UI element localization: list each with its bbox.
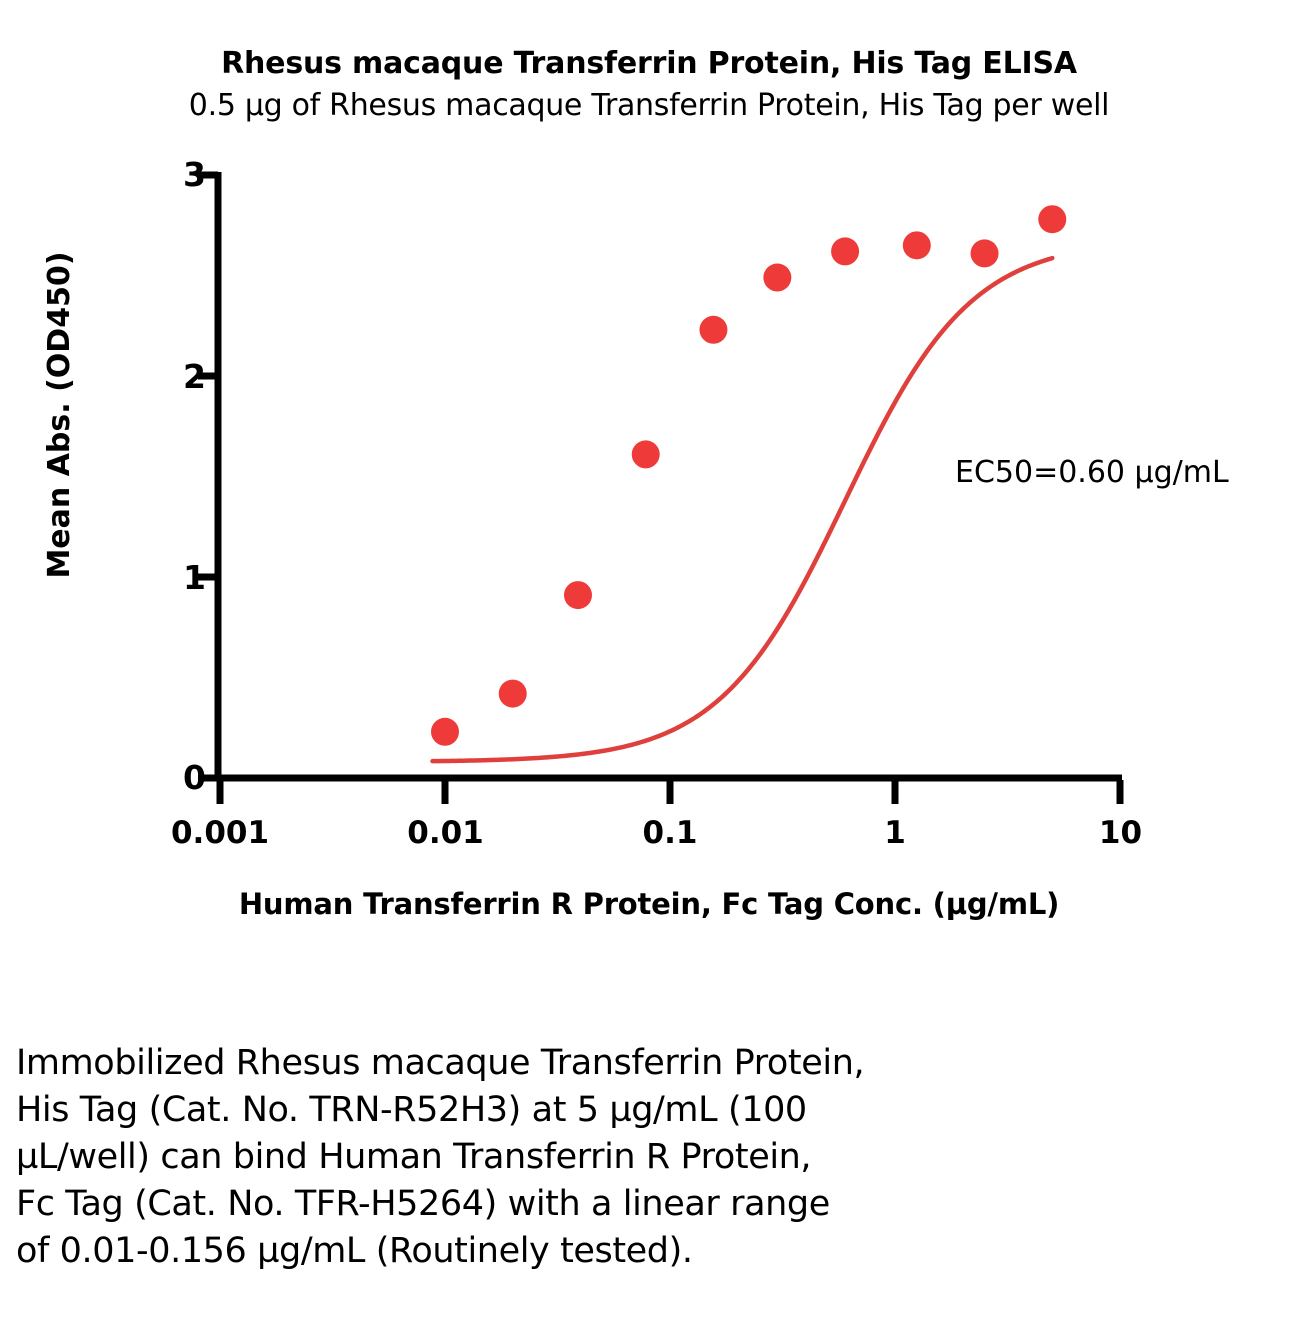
data-point-marker	[831, 237, 859, 265]
y-tick-label: 1	[166, 561, 206, 594]
x-tick-label: 10	[1058, 818, 1183, 849]
figure-caption: Immobilized Rhesus macaque Transferrin P…	[16, 1040, 1156, 1275]
x-tick-label: 0.01	[368, 818, 523, 849]
data-point-marker	[971, 239, 999, 267]
x-tick-label: 0.001	[140, 818, 300, 849]
caption-line: His Tag (Cat. No. TRN-R52H3) at 5 µg/mL …	[16, 1087, 1156, 1134]
y-tick-label: 0	[166, 761, 206, 794]
caption-line: µL/well) can bind Human Transferrin R Pr…	[16, 1134, 1156, 1181]
data-point-marker	[499, 680, 527, 708]
data-point-marker	[763, 264, 791, 292]
y-tick-label: 2	[166, 360, 206, 393]
ec50-annotation: EC50=0.60 µg/mL	[955, 456, 1229, 490]
caption-line: Fc Tag (Cat. No. TFR-H5264) with a linea…	[16, 1181, 1156, 1228]
x-tick-label: 0.1	[600, 818, 740, 849]
chart-plot-area: 3 2 1 0 0.001 0.01 0.1 1 10 Mean Abs. (O…	[0, 0, 1298, 960]
data-point-marker	[1038, 205, 1066, 233]
y-tick-label: 3	[166, 158, 206, 191]
x-tick-label: 1	[840, 818, 950, 849]
data-point-marker	[632, 440, 660, 468]
data-point-marker	[699, 316, 727, 344]
fit-curve	[433, 258, 1053, 761]
x-axis-ticks	[220, 780, 1120, 804]
caption-line: of 0.01-0.156 µg/mL (Routinely tested).	[16, 1228, 1156, 1275]
y-axis-title: Mean Abs. (OD450)	[45, 155, 75, 675]
caption-line: Immobilized Rhesus macaque Transferrin P…	[16, 1040, 1156, 1087]
x-axis-title: Human Transferrin R Protein, Fc Tag Conc…	[0, 887, 1298, 921]
data-point-marker	[431, 718, 459, 746]
data-point-marker	[903, 231, 931, 259]
data-point-marker	[564, 581, 592, 609]
